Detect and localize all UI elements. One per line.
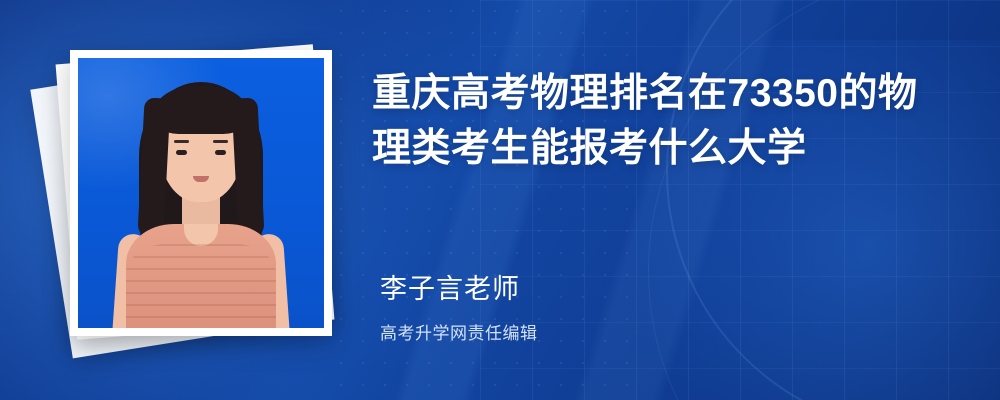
byline-block: 李子言老师 高考升学网责任编辑 (380, 272, 940, 344)
portrait-eye-right (215, 150, 226, 155)
author-name: 李子言老师 (380, 272, 940, 307)
portrait-eye-left (176, 150, 187, 155)
photo-card-stack (46, 38, 346, 368)
banner-headline: 重庆高考物理排名在73350的物理类考生能报考什么大学 (372, 66, 952, 177)
author-role: 高考升学网责任编辑 (380, 319, 940, 344)
portrait-eyebrow-left (174, 140, 189, 143)
portrait-dress-texture (126, 244, 276, 328)
photo-card-front (70, 50, 332, 336)
promo-banner: 重庆高考物理排名在73350的物理类考生能报考什么大学 李子言老师 高考升学网责… (0, 0, 1000, 400)
portrait-photo (78, 58, 324, 328)
headline-block: 重庆高考物理排名在73350的物理类考生能报考什么大学 (372, 66, 952, 177)
portrait-eyebrow-right (213, 140, 228, 143)
